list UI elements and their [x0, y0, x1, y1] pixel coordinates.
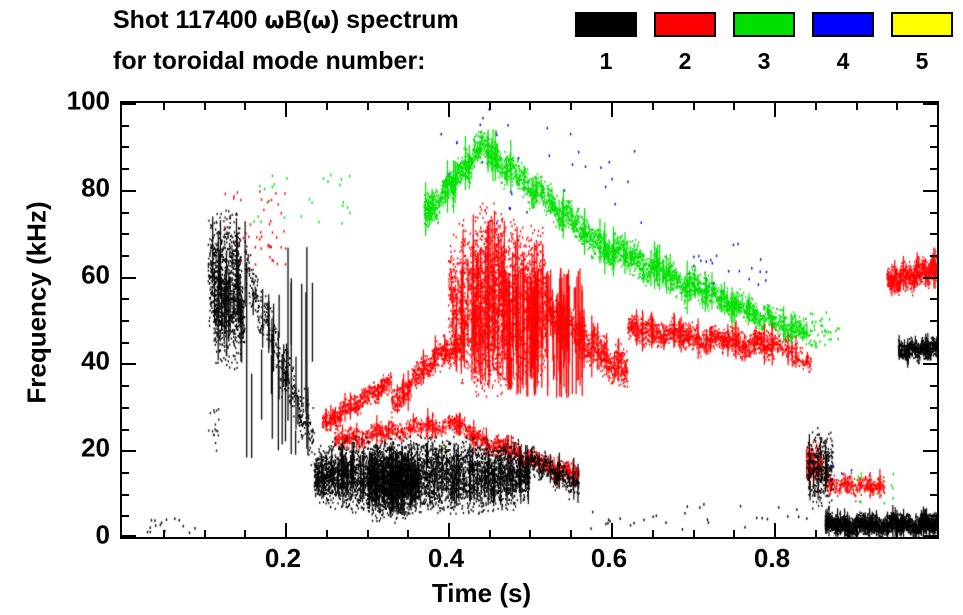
- y-tick-label: 40: [81, 346, 110, 377]
- y-tick-label: 60: [81, 259, 110, 290]
- legend-label-mode-n2: 2: [654, 48, 716, 75]
- x-major-tick: [774, 523, 776, 537]
- legend-label-mode-n3: 3: [733, 48, 795, 75]
- y-minor-tick: [122, 212, 129, 214]
- title-suffix: ) spectrum: [331, 6, 459, 34]
- y-minor-tick-right: [930, 494, 937, 496]
- x-tick-label: 0.8: [754, 543, 790, 574]
- plot-area: [120, 101, 939, 539]
- legend-item-mode-n2: 2: [654, 12, 716, 75]
- y-minor-tick: [122, 298, 129, 300]
- y-minor-tick-right: [930, 212, 937, 214]
- legend-swatch-mode-n1: [575, 12, 637, 37]
- x-tick-label: 0.6: [591, 543, 627, 574]
- figure-title-line-2: for toroidal mode number:: [113, 47, 426, 76]
- title-mid: B(: [284, 6, 310, 34]
- y-minor-tick: [122, 233, 129, 235]
- x-major-tick-top: [285, 103, 287, 117]
- x-minor-tick-top: [244, 103, 246, 110]
- x-minor-tick-top: [407, 103, 409, 110]
- y-minor-tick: [122, 342, 129, 344]
- y-minor-tick: [122, 472, 129, 474]
- x-minor-tick-top: [163, 103, 165, 110]
- x-axis-tick-labels: 0.20.40.60.8: [120, 543, 935, 575]
- legend-label-mode-n1: 1: [575, 48, 637, 75]
- legend-swatch-mode-n3: [733, 12, 795, 37]
- y-minor-tick-right: [930, 255, 937, 257]
- x-minor-tick-top: [856, 103, 858, 110]
- y-minor-tick-right: [930, 429, 937, 431]
- y-major-tick-right: [923, 277, 937, 279]
- x-minor-tick-top: [489, 103, 491, 110]
- legend: 12345: [575, 12, 950, 84]
- x-minor-tick: [244, 530, 246, 537]
- x-minor-tick-top: [733, 103, 735, 110]
- y-major-tick: [122, 190, 136, 192]
- x-major-tick: [611, 523, 613, 537]
- x-major-tick: [448, 523, 450, 537]
- x-minor-tick-top: [529, 103, 531, 110]
- y-minor-tick-right: [930, 125, 937, 127]
- x-axis-title: Time (s): [0, 578, 963, 609]
- x-minor-tick: [815, 530, 817, 537]
- y-minor-tick-right: [930, 233, 937, 235]
- y-minor-tick: [122, 515, 129, 517]
- y-major-tick: [122, 363, 136, 365]
- y-minor-tick-right: [930, 407, 937, 409]
- y-tick-label: 20: [81, 433, 110, 464]
- y-minor-tick-right: [930, 385, 937, 387]
- x-minor-tick: [529, 530, 531, 537]
- y-major-tick-right: [923, 535, 937, 537]
- legend-swatch-mode-n5: [891, 12, 953, 37]
- x-minor-tick-top: [693, 103, 695, 110]
- legend-swatch-mode-n4: [812, 12, 874, 37]
- x-minor-tick: [733, 530, 735, 537]
- x-minor-tick: [326, 530, 328, 537]
- legend-label-mode-n4: 4: [812, 48, 874, 75]
- y-minor-tick: [122, 494, 129, 496]
- x-minor-tick-top: [367, 103, 369, 110]
- legend-item-mode-n1: 1: [575, 12, 637, 75]
- x-minor-tick-top: [896, 103, 898, 110]
- y-tick-label: 80: [81, 172, 110, 203]
- x-tick-label: 0.2: [265, 543, 301, 574]
- omega-symbol-2: ω: [311, 8, 331, 34]
- legend-label-mode-n5: 5: [891, 48, 953, 75]
- x-minor-tick-top: [326, 103, 328, 110]
- y-major-tick-right: [923, 363, 937, 365]
- y-minor-tick: [122, 168, 129, 170]
- y-major-tick: [122, 103, 136, 105]
- x-tick-label: 0.4: [428, 543, 464, 574]
- x-minor-tick: [896, 530, 898, 537]
- y-major-tick: [122, 277, 136, 279]
- y-minor-tick: [122, 407, 129, 409]
- y-minor-tick: [122, 320, 129, 322]
- x-minor-tick: [652, 530, 654, 537]
- y-tick-label: 0: [96, 520, 110, 551]
- y-minor-tick: [122, 385, 129, 387]
- y-minor-tick: [122, 146, 129, 148]
- x-major-tick-top: [774, 103, 776, 117]
- x-minor-tick: [693, 530, 695, 537]
- y-major-tick: [122, 450, 136, 452]
- y-major-tick-right: [923, 103, 937, 105]
- spectrogram-figure: Shot 117400 ωB(ω) spectrum for toroidal …: [0, 0, 963, 615]
- y-minor-tick-right: [930, 320, 937, 322]
- y-minor-tick: [122, 255, 129, 257]
- x-minor-tick-top: [570, 103, 572, 110]
- y-minor-tick-right: [930, 168, 937, 170]
- legend-item-mode-n4: 4: [812, 12, 874, 75]
- x-major-tick-top: [611, 103, 613, 117]
- y-major-tick: [122, 535, 136, 537]
- x-minor-tick: [489, 530, 491, 537]
- y-minor-tick: [122, 429, 129, 431]
- y-major-tick-right: [923, 450, 937, 452]
- x-minor-tick: [856, 530, 858, 537]
- y-minor-tick-right: [930, 472, 937, 474]
- x-major-tick-top: [448, 103, 450, 117]
- y-axis-title: Frequency (kHz): [22, 103, 53, 503]
- y-major-tick-right: [923, 190, 937, 192]
- legend-item-mode-n5: 5: [891, 12, 953, 75]
- x-minor-tick-top: [204, 103, 206, 110]
- x-minor-tick-top: [652, 103, 654, 110]
- x-minor-tick: [570, 530, 572, 537]
- y-minor-tick-right: [930, 298, 937, 300]
- x-minor-tick: [367, 530, 369, 537]
- x-minor-tick: [163, 530, 165, 537]
- omega-symbol-1: ω: [264, 8, 284, 34]
- x-minor-tick-top: [815, 103, 817, 110]
- figure-title-line-1: Shot 117400 ωB(ω) spectrum: [113, 6, 459, 35]
- x-major-tick: [285, 523, 287, 537]
- legend-item-mode-n3: 3: [733, 12, 795, 75]
- y-tick-label: 100: [67, 86, 110, 117]
- y-minor-tick-right: [930, 146, 937, 148]
- legend-swatch-mode-n2: [654, 12, 716, 37]
- y-minor-tick-right: [930, 342, 937, 344]
- title-prefix: Shot 117400: [113, 6, 264, 34]
- x-minor-tick: [204, 530, 206, 537]
- spectrogram-canvas: [122, 103, 937, 537]
- x-minor-tick: [407, 530, 409, 537]
- y-minor-tick: [122, 125, 129, 127]
- y-minor-tick-right: [930, 515, 937, 517]
